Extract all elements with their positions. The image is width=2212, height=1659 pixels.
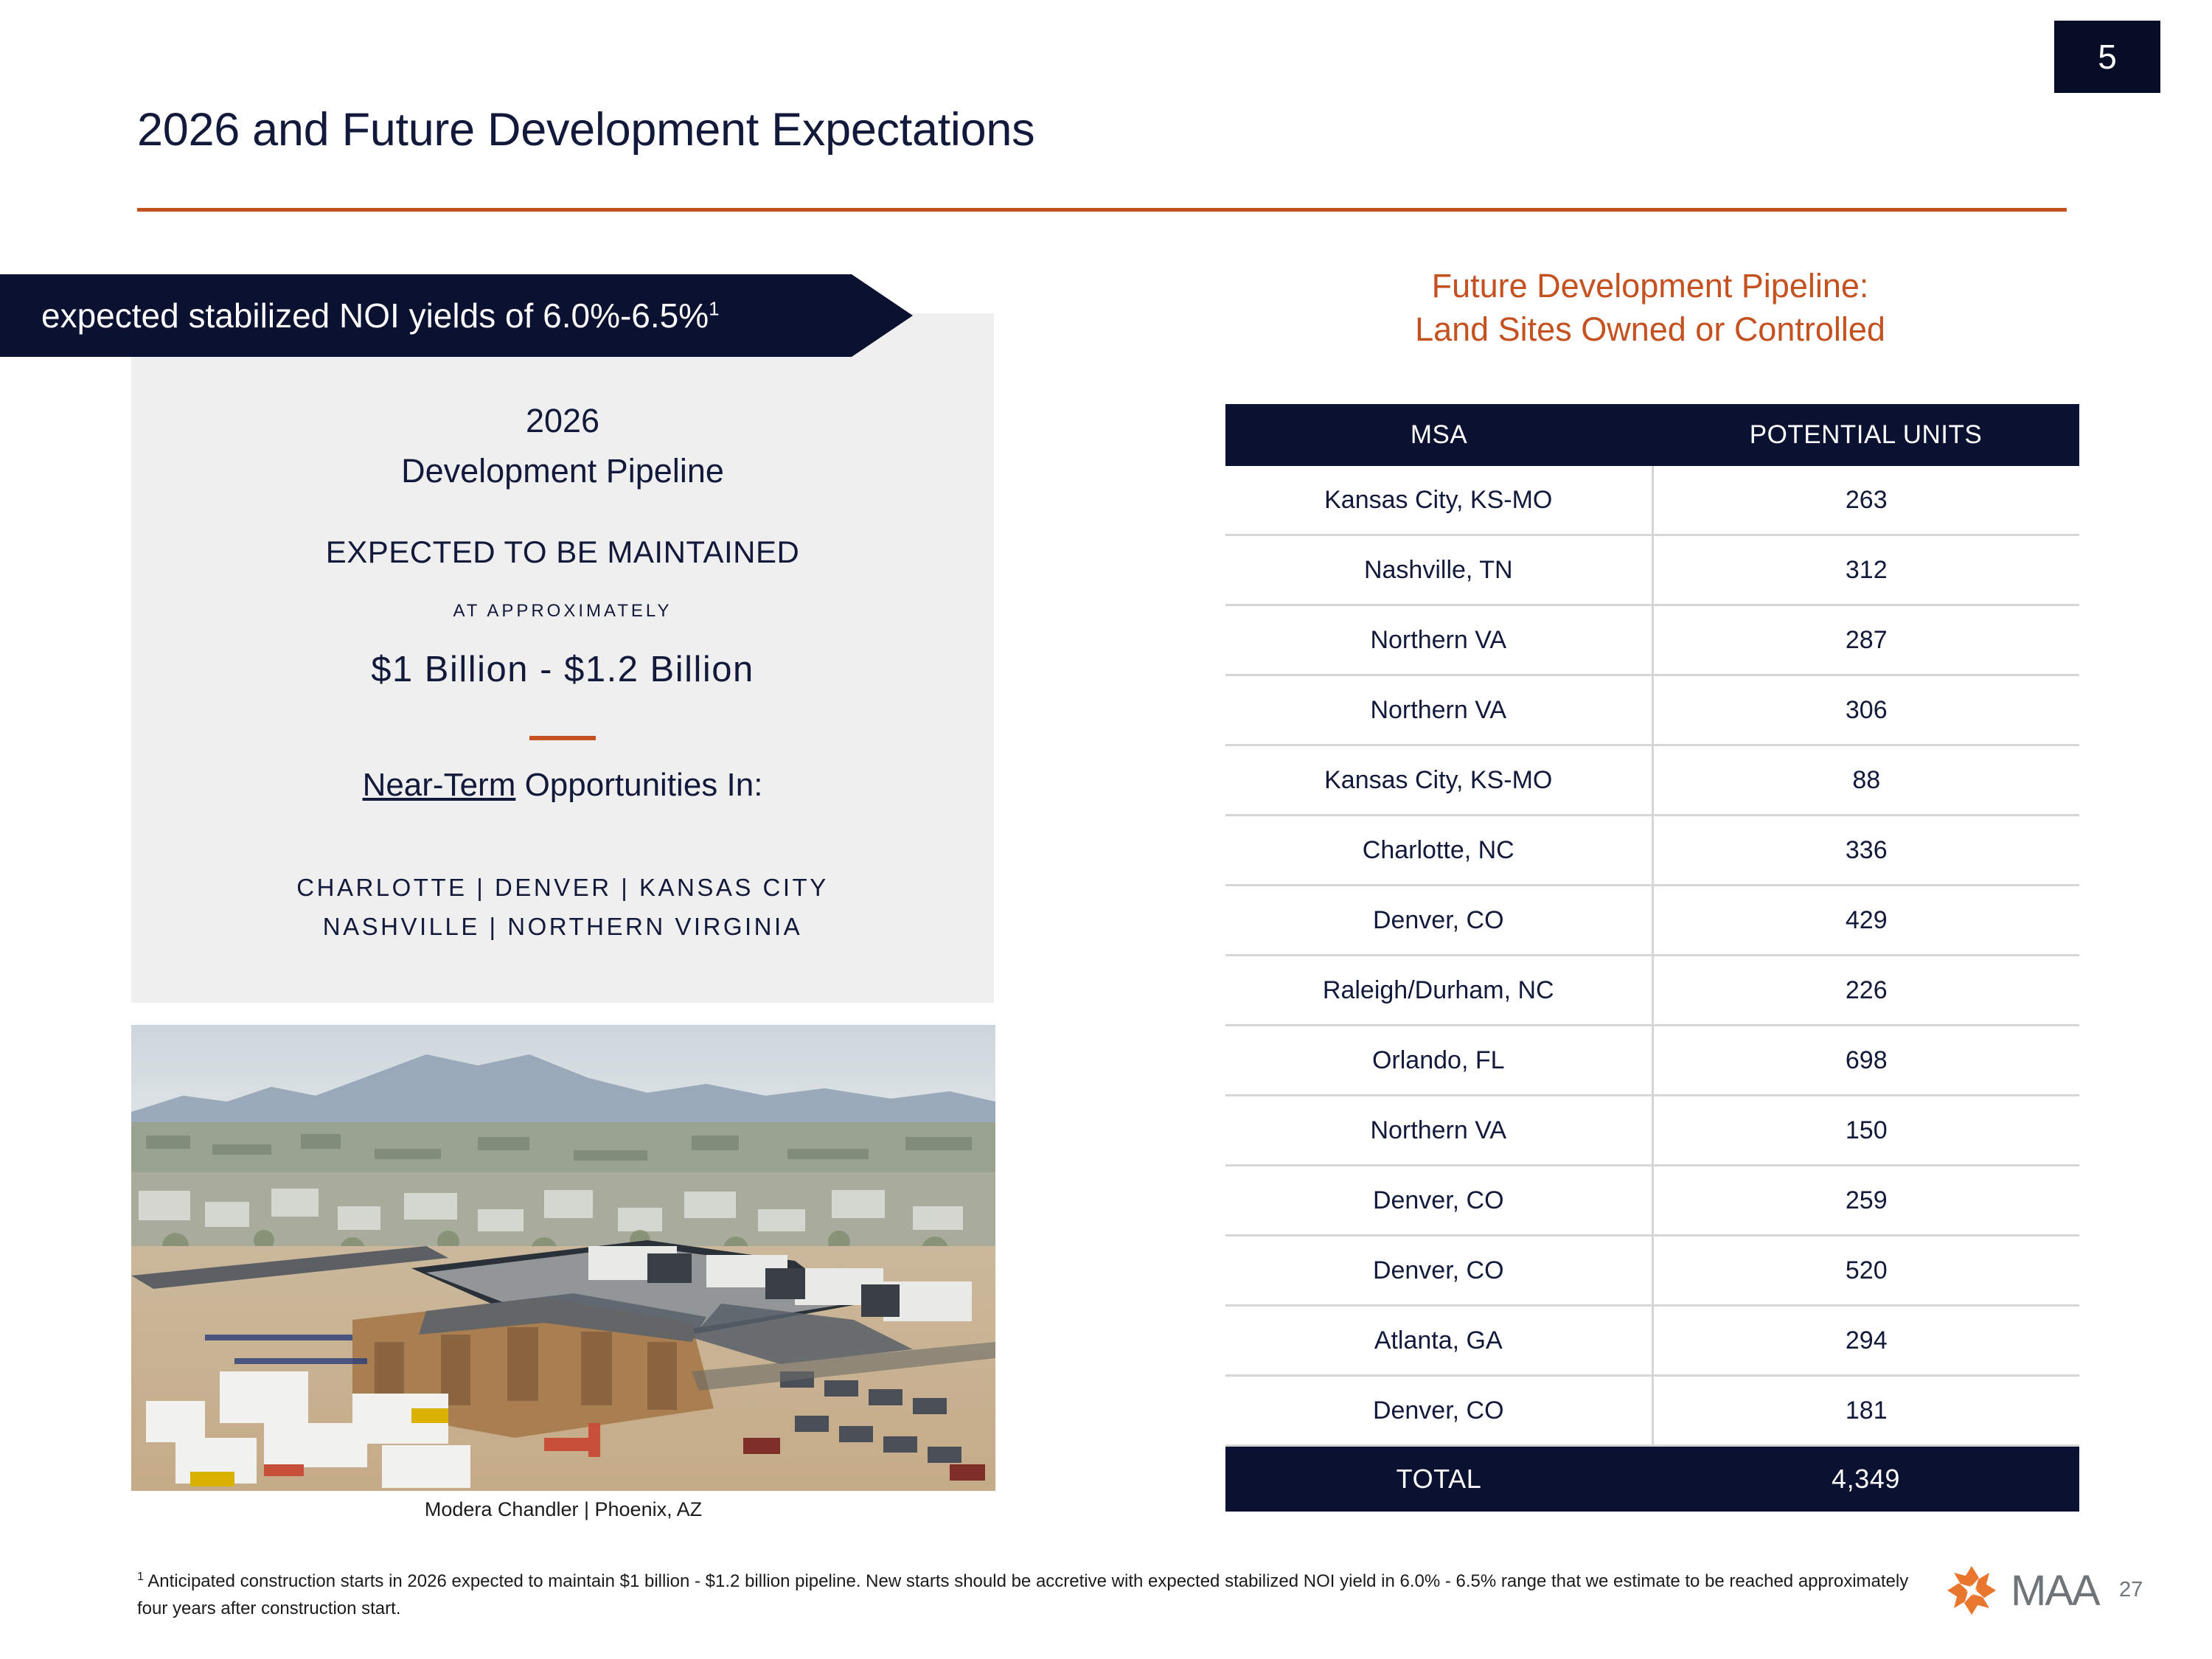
- noi-yield-banner: expected stabilized NOI yields of 6.0%-6…: [0, 274, 913, 357]
- cell-potential-units: 88: [1652, 745, 2079, 815]
- footnote-text: Anticipated construction starts in 2026 …: [137, 1571, 1908, 1618]
- cell-potential-units: 312: [1652, 535, 2079, 605]
- cell-potential-units: 336: [1652, 815, 2079, 886]
- near-term-underlined-text: Near-Term: [363, 767, 516, 803]
- slide-number-badge: 5: [2054, 21, 2160, 93]
- markets-line-two: NASHVILLE | NORTHERN VIRGINIA: [131, 913, 994, 941]
- near-term-opportunities-label: Near-Term Opportunities In:: [131, 767, 994, 804]
- table-body: Kansas City, KS-MO263Nashville, TN312Nor…: [1225, 466, 2079, 1512]
- cell-msa: Denver, CO: [1225, 886, 1652, 956]
- noi-banner-label: expected stabilized NOI yields of 6.0%-6…: [41, 296, 720, 335]
- title-divider-rule: [137, 208, 2067, 212]
- cell-msa: Denver, CO: [1225, 1166, 1652, 1236]
- near-term-rest-text: Opportunities In:: [515, 767, 762, 803]
- table-header-row: MSA POTENTIAL UNITS: [1225, 404, 2079, 466]
- cell-msa: Kansas City, KS-MO: [1225, 745, 1652, 815]
- cell-potential-units: 698: [1652, 1026, 2079, 1096]
- cell-msa: Northern VA: [1225, 1096, 1652, 1166]
- cell-potential-units: 150: [1652, 1096, 2079, 1166]
- table-row: Orlando, FL698: [1225, 1026, 2079, 1096]
- cell-msa: Atlanta, GA: [1225, 1306, 1652, 1376]
- table-row: Northern VA287: [1225, 605, 2079, 675]
- maa-logo: MAA: [1943, 1562, 2099, 1619]
- cell-potential-units: 181: [1652, 1376, 2079, 1446]
- construction-site-photo: [131, 1025, 995, 1491]
- cell-msa: Denver, CO: [1225, 1236, 1652, 1306]
- at-approximately-label: AT APPROXIMATELY: [131, 601, 994, 622]
- cell-potential-units: 294: [1652, 1306, 2079, 1376]
- markets-line-one: CHARLOTTE | DENVER | KANSAS CITY: [131, 874, 994, 902]
- table-row: Denver, CO259: [1225, 1166, 2079, 1236]
- cell-potential-units: 520: [1652, 1236, 2079, 1306]
- column-header-msa: MSA: [1225, 404, 1652, 466]
- panel-divider-rule: [529, 736, 596, 740]
- cell-msa: Orlando, FL: [1225, 1026, 1652, 1096]
- cell-potential-units: 429: [1652, 886, 2079, 956]
- cell-potential-units: 226: [1652, 956, 2079, 1026]
- table-row: Nashville, TN312: [1225, 535, 2079, 605]
- cell-msa: Charlotte, NC: [1225, 815, 1652, 886]
- cell-msa: Northern VA: [1225, 605, 1652, 675]
- aerial-photo-illustration: [131, 1025, 995, 1491]
- footnote-marker: 1: [137, 1571, 144, 1583]
- table-row: Denver, CO429: [1225, 886, 2079, 956]
- cell-total-label: TOTAL: [1225, 1446, 1652, 1512]
- pipeline-year-label: 2026: [131, 402, 994, 440]
- pipeline-heading-line-1: Future Development Pipeline:: [1218, 264, 2082, 307]
- cell-potential-units: 263: [1652, 466, 2079, 535]
- cell-msa: Denver, CO: [1225, 1376, 1652, 1446]
- table-row: Denver, CO520: [1225, 1236, 2079, 1306]
- pipeline-amount-label: $1 Billion - $1.2 Billion: [131, 649, 994, 690]
- table-row: Kansas City, KS-MO88: [1225, 745, 2079, 815]
- cell-msa: Kansas City, KS-MO: [1225, 466, 1652, 535]
- footer-page-number: 27: [2119, 1578, 2143, 1602]
- table-row: Atlanta, GA294: [1225, 1306, 2079, 1376]
- noi-banner-superscript: 1: [709, 298, 719, 320]
- noi-banner-text: expected stabilized NOI yields of 6.0%-6…: [41, 296, 709, 335]
- pipeline-subtitle-label: Development Pipeline: [131, 452, 994, 490]
- table-row: Charlotte, NC336: [1225, 815, 2079, 886]
- pipeline-heading-line-2: Land Sites Owned or Controlled: [1218, 307, 2082, 351]
- cell-msa: Northern VA: [1225, 675, 1652, 745]
- maa-wordmark: MAA: [2011, 1566, 2099, 1615]
- expected-maintained-label: EXPECTED TO BE MAINTAINED: [131, 535, 994, 570]
- table-row: Northern VA150: [1225, 1096, 2079, 1166]
- maa-flower-icon: [1943, 1562, 2000, 1619]
- table-header: MSA POTENTIAL UNITS: [1225, 404, 2079, 466]
- pipeline-table-heading: Future Development Pipeline: Land Sites …: [1218, 264, 2082, 352]
- cell-potential-units: 259: [1652, 1166, 2079, 1236]
- cell-potential-units: 287: [1652, 605, 2079, 675]
- column-header-potential-units: POTENTIAL UNITS: [1652, 404, 2079, 466]
- potential-units-table: MSA POTENTIAL UNITS Kansas City, KS-MO26…: [1225, 404, 2079, 1512]
- cell-potential-units: 306: [1652, 675, 2079, 745]
- cell-total-value: 4,349: [1652, 1446, 2079, 1512]
- page-title: 2026 and Future Development Expectations: [137, 103, 1034, 156]
- table-row: Raleigh/Durham, NC226: [1225, 956, 2079, 1026]
- table-row: Denver, CO181: [1225, 1376, 2079, 1446]
- cell-msa: Raleigh/Durham, NC: [1225, 956, 1652, 1026]
- photo-caption: Modera Chandler | Phoenix, AZ: [131, 1498, 995, 1521]
- table-row: Northern VA306: [1225, 675, 2079, 745]
- footnote: 1 Anticipated construction starts in 202…: [137, 1568, 1921, 1622]
- table-total-row: TOTAL4,349: [1225, 1446, 2079, 1512]
- table-row: Kansas City, KS-MO263: [1225, 466, 2079, 535]
- cell-msa: Nashville, TN: [1225, 535, 1652, 605]
